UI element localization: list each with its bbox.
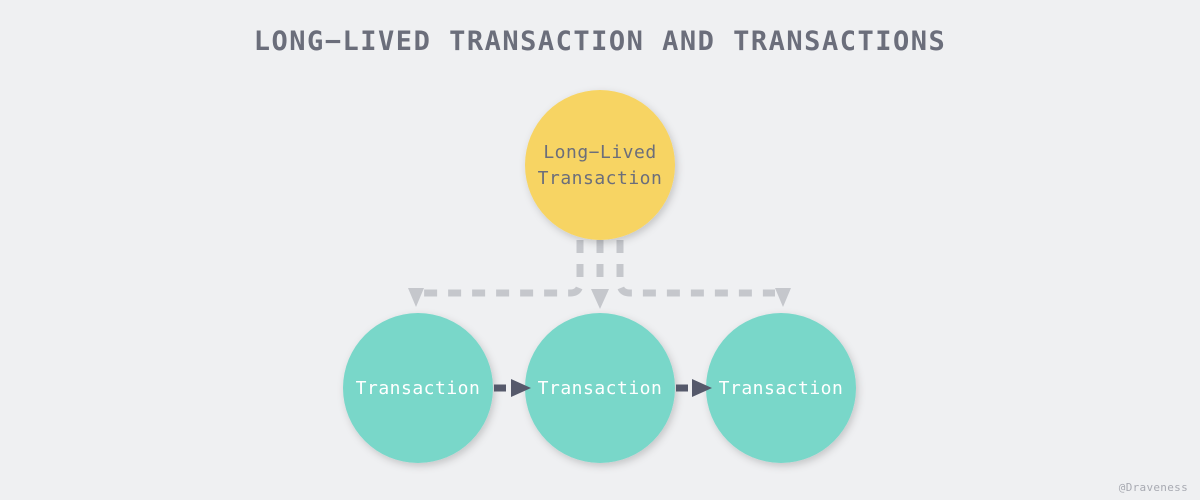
node-long-lived-transaction[interactable]: Long−Lived Transaction <box>525 90 675 240</box>
diagram-root: LONG−LIVED TRANSACTION AND TRANSACTIONS <box>0 0 1200 500</box>
dashed-line <box>424 240 580 293</box>
edge-parent-to-transaction-2 <box>591 240 609 309</box>
dashed-line <box>620 240 775 293</box>
edge-parent-to-transaction-1 <box>408 240 580 307</box>
node-transaction-2[interactable]: Transaction <box>525 313 675 463</box>
arrowhead-down-icon <box>591 289 609 309</box>
node-label: Transaction <box>356 378 481 399</box>
arrowhead-down-icon <box>408 288 424 307</box>
node-label: Transaction <box>719 378 844 399</box>
watermark: @Draveness <box>1119 481 1188 494</box>
node-label: Transaction <box>538 378 663 399</box>
arrowhead-down-icon <box>775 288 791 307</box>
node-transaction-1[interactable]: Transaction <box>343 313 493 463</box>
node-transaction-3[interactable]: Transaction <box>706 313 856 463</box>
dashed-edge-group <box>408 240 791 309</box>
node-label-line2: Transaction <box>538 168 663 189</box>
diagram-canvas: Long−Lived Transaction Transaction Trans… <box>0 0 1200 500</box>
node-circle[interactable] <box>525 90 675 240</box>
edge-parent-to-transaction-3 <box>620 240 791 307</box>
node-label-line1: Long−Lived <box>543 142 656 163</box>
